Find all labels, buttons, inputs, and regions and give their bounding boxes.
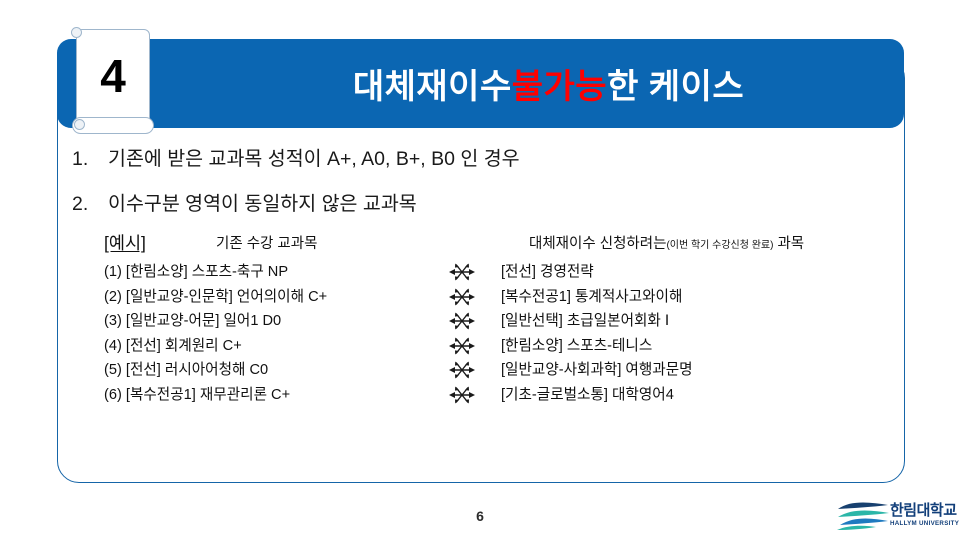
page-title: 대체재이수 불가능한 케이스 xyxy=(207,39,890,128)
table-row: (1) [한림소양] 스포츠-축구 NP xyxy=(104,260,894,285)
logo-name-ko: 한림대학교 xyxy=(890,503,956,519)
logo-name-en: HALLYM UNIVERSITY xyxy=(890,519,956,528)
list-item: 1. 기존에 받은 교과목 성적이 A+, A0, B+, B0 인 경우 xyxy=(72,146,872,173)
row-target-course: [전선] 경영전략 xyxy=(501,260,881,285)
row-source-course: (5) [전선] 러시아어청해 C0 xyxy=(104,358,434,383)
row-source-course: (6) [복수전공1] 재무관리론 C+ xyxy=(104,383,434,408)
column-header-right-note: (이번 학기 수강신청 완료) xyxy=(666,240,773,251)
row-source-course: (2) [일반교양-인문학] 언어의이해 C+ xyxy=(104,285,434,310)
numbered-list: 1. 기존에 받은 교과목 성적이 A+, A0, B+, B0 인 경우 2.… xyxy=(72,146,872,237)
page-title-suffix: 한 케이스 xyxy=(607,59,744,108)
bidirectional-cross-arrow-icon xyxy=(445,361,479,379)
table-row: (6) [복수전공1] 재무관리론 C+ xyxy=(104,383,894,408)
column-header-right-tail: 과목 xyxy=(773,236,804,252)
page-title-highlight: 불가능 xyxy=(512,59,607,108)
table-row: (5) [전선] 러시아어청해 C0 xyxy=(104,358,894,383)
list-item: 2. 이수구분 영역이 동일하지 않은 교과목 xyxy=(72,191,872,218)
logo-text: 한림대학교 HALLYM UNIVERSITY xyxy=(890,503,956,528)
bidirectional-cross-arrow-icon xyxy=(445,263,479,281)
bidirectional-cross-arrow-icon xyxy=(445,337,479,355)
section-number: 4 xyxy=(76,29,150,122)
table-row: (4) [전선] 회계원리 C+ xyxy=(104,334,894,359)
row-target-course: [한림소양] 스포츠-테니스 xyxy=(501,334,881,359)
table-row: (2) [일반교양-인문학] 언어의이해 C+ xyxy=(104,285,894,310)
example-pair-list: (1) [한림소양] 스포츠-축구 NP xyxy=(104,260,894,407)
bidirectional-cross-arrow-icon xyxy=(445,288,479,306)
slide-header-bar: 대체재이수 불가능한 케이스 xyxy=(57,39,904,128)
column-header-right: 대체재이수 신청하려는(이번 학기 수강신청 완료) 과목 xyxy=(529,232,804,253)
page-title-prefix: 대체재이수 xyxy=(353,59,512,108)
scroll-curl-top-icon xyxy=(71,27,82,38)
row-target-course: [일반선택] 초급일본어회화 Ⅰ xyxy=(501,309,881,334)
column-header-right-main: 대체재이수 신청하려는 xyxy=(529,236,666,252)
university-logo: 한림대학교 HALLYM UNIVERSITY xyxy=(836,500,954,536)
row-target-course: [복수전공1] 통계적사고와이해 xyxy=(501,285,881,310)
example-label: [예시] xyxy=(104,230,146,255)
list-item-text: 이수구분 영역이 동일하지 않은 교과목 xyxy=(108,191,872,218)
row-target-course: [일반교양-사회과학] 여행과문명 xyxy=(501,358,881,383)
section-number-badge: 4 xyxy=(70,25,156,138)
bidirectional-cross-arrow-icon xyxy=(445,312,479,330)
example-block: [예시] 기존 수강 교과목 대체재이수 신청하려는(이번 학기 수강신청 완료… xyxy=(104,230,894,407)
row-source-course: (1) [한림소양] 스포츠-축구 NP xyxy=(104,260,434,285)
bidirectional-cross-arrow-icon xyxy=(445,386,479,404)
wave-mark-icon xyxy=(836,519,892,536)
row-target-course: [기초-글로벌소통] 대학영어4 xyxy=(501,383,881,408)
row-source-course: (4) [전선] 회계원리 C+ xyxy=(104,334,434,359)
table-row: (3) [일반교양-어문] 일어1 D0 xyxy=(104,309,894,334)
example-header-row: [예시] 기존 수강 교과목 대체재이수 신청하려는(이번 학기 수강신청 완료… xyxy=(104,230,894,254)
list-item-marker: 1. xyxy=(72,146,108,173)
slide-canvas: 대체재이수 불가능한 케이스 4 1. 기존에 받은 교과목 성적이 A+, A… xyxy=(0,0,960,540)
scroll-curl-bottom-icon xyxy=(74,119,85,130)
list-item-marker: 2. xyxy=(72,191,108,218)
column-header-left: 기존 수강 교과목 xyxy=(216,232,317,253)
list-item-text: 기존에 받은 교과목 성적이 A+, A0, B+, B0 인 경우 xyxy=(108,146,872,173)
row-source-course: (3) [일반교양-어문] 일어1 D0 xyxy=(104,309,434,334)
page-number: 6 xyxy=(0,508,960,524)
